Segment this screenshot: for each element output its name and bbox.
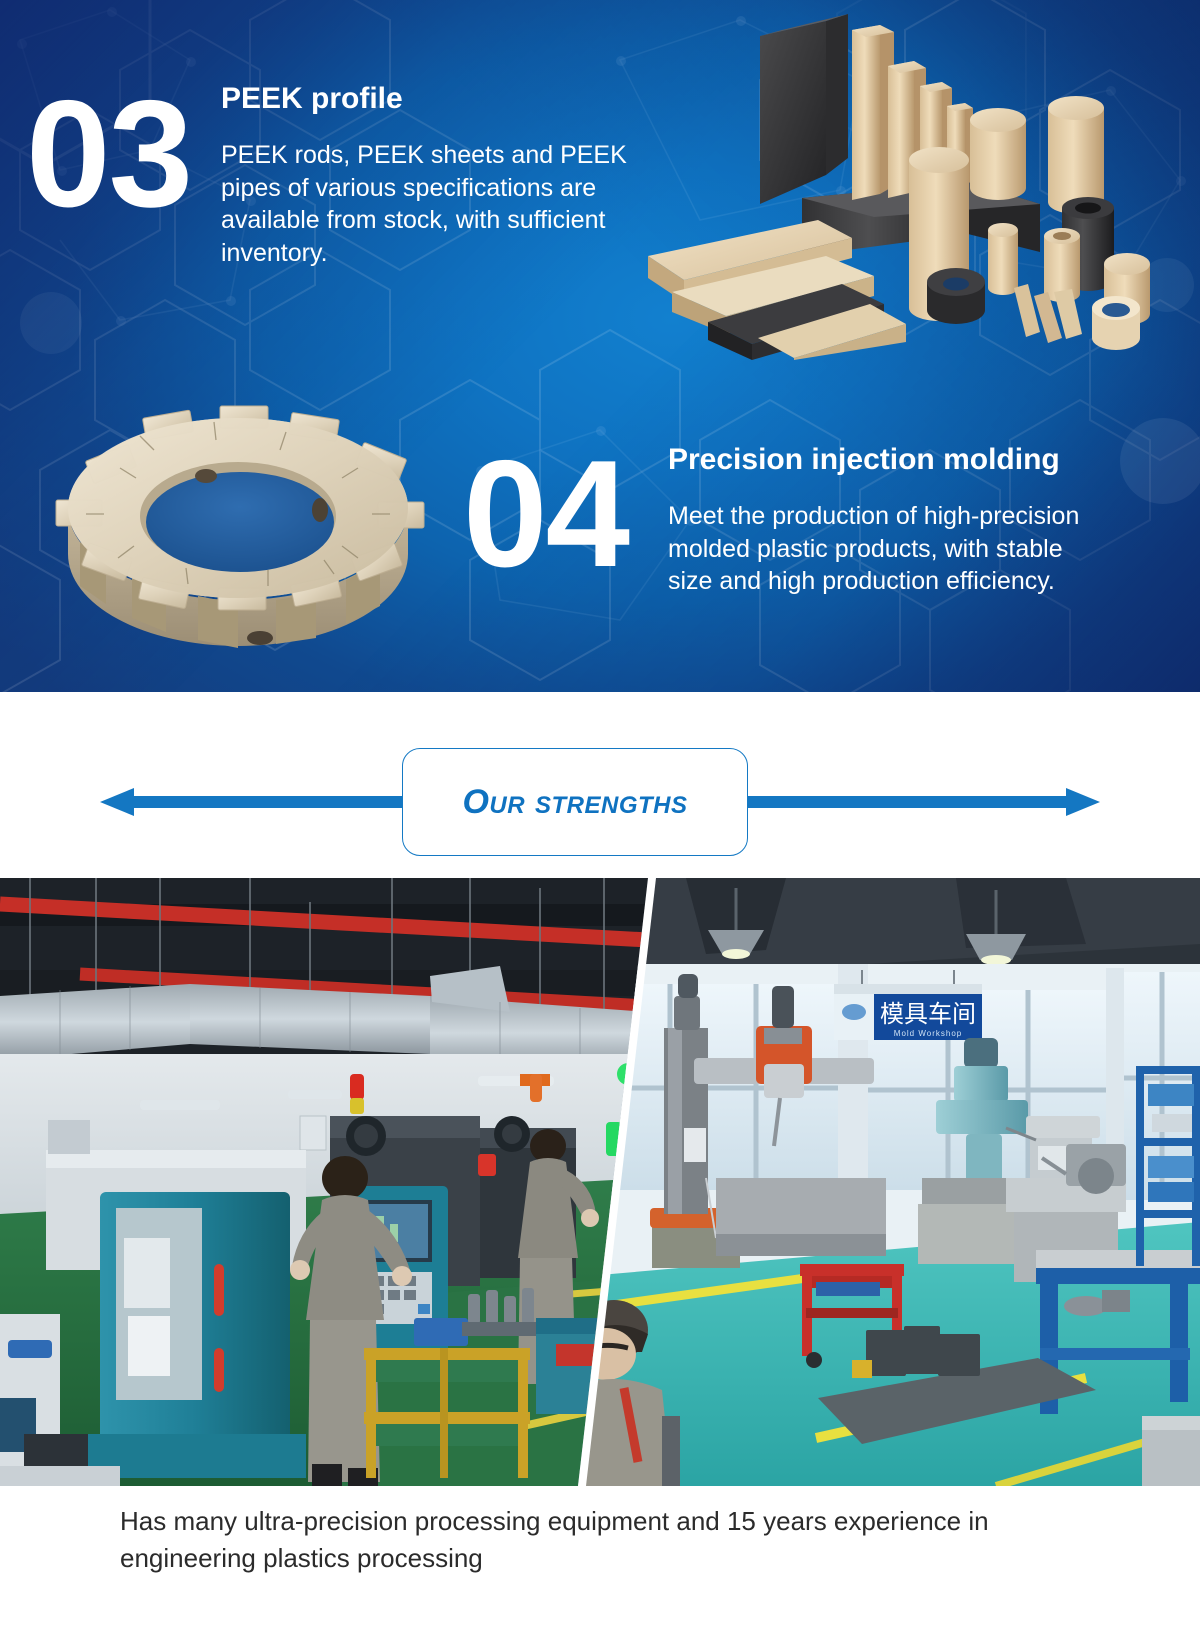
item-number-03: 03 (26, 78, 191, 230)
hero-panel: 03 PEEK profile PEEK rods, PEEK sheets a… (0, 0, 1200, 692)
mold-workshop-sign-english: Mold Workshop (894, 1029, 962, 1038)
item-description-04: Meet the production of high-precision mo… (668, 500, 1098, 598)
bokeh-dot (20, 292, 82, 354)
bokeh-dot (1120, 418, 1200, 504)
item-description-03: PEEK rods, PEEK sheets and PEEK pipes of… (221, 139, 651, 269)
item-number-04: 04 (463, 438, 628, 590)
peek-stock-shapes-photo (630, 8, 1192, 360)
strengths-label: Our strengths (402, 748, 748, 856)
item-title-04: Precision injection molding (668, 443, 1060, 476)
mold-workshop-sign-chinese: 模具车间 (880, 1000, 976, 1028)
workshop-photo-strip: 模具车间 Mold Workshop (0, 878, 1200, 1486)
mold-workshop-photo: 模具车间 Mold Workshop (566, 878, 1200, 1486)
peek-machined-gear-ring-photo (28, 392, 448, 664)
cnc-machining-workshop-photo (0, 878, 648, 1486)
bottom-caption: Has many ultra-precision processing equi… (120, 1503, 1100, 1577)
item-title-03: PEEK profile (221, 82, 403, 115)
